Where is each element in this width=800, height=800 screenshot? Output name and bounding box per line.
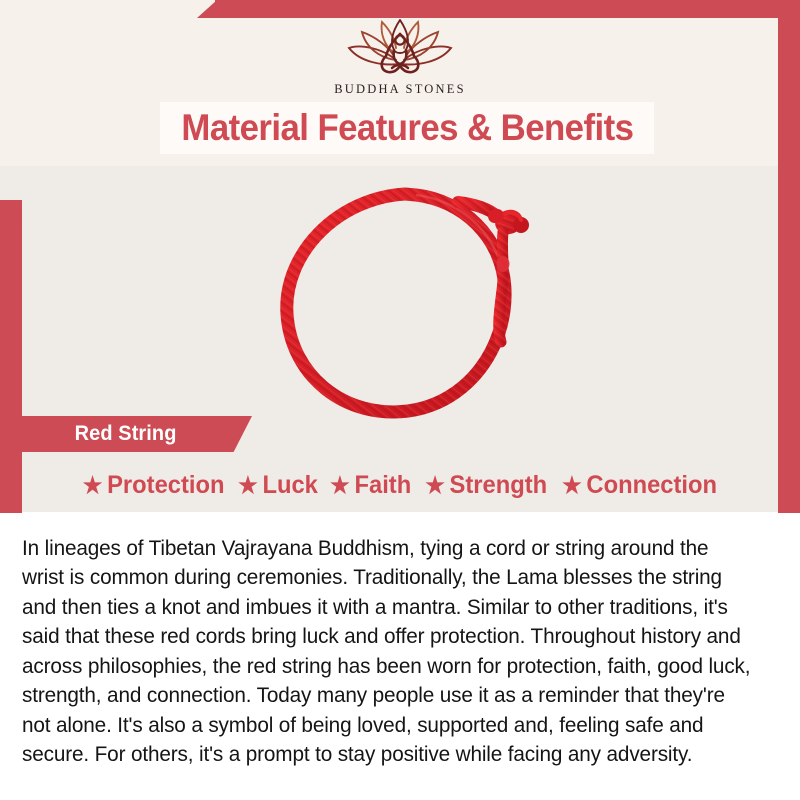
description-paragraph: In lineages of Tibetan Vajrayana Buddhis… [22,534,752,770]
lotus-meditation-figure-icon [330,14,470,80]
product-label-text: Red String [75,422,177,446]
benefit-label: Connection [586,471,717,500]
benefits-list: ★ Protection ★ Luck ★ Faith ★ Strength ★… [0,464,800,506]
page-title: Material Features & Benefits [181,107,633,149]
product-label-banner: Red String [22,416,252,452]
brand-name: BUDDHA STONES [0,82,800,97]
brand-logo: BUDDHA STONES [0,14,800,97]
infographic-page: BUDDHA STONES Material Features & Benefi… [0,0,800,800]
title-banner: Material Features & Benefits [160,102,654,154]
benefit-item-connection: ★ Connection [559,471,720,500]
star-icon: ★ [562,474,582,497]
star-icon: ★ [425,474,445,497]
star-icon: ★ [330,474,350,497]
benefit-item-protection: ★ Protection [80,471,227,500]
benefit-item-strength: ★ Strength [422,471,550,500]
benefit-item-faith: ★ Faith [327,471,414,500]
benefit-label: Protection [107,471,224,500]
product-photo-red-string-bracelet [253,178,553,434]
star-icon: ★ [83,474,103,497]
star-icon: ★ [238,474,258,497]
benefit-label: Strength [449,471,547,500]
benefit-label: Luck [263,471,318,500]
benefit-label: Faith [355,471,412,500]
benefit-item-luck: ★ Luck [235,471,320,500]
